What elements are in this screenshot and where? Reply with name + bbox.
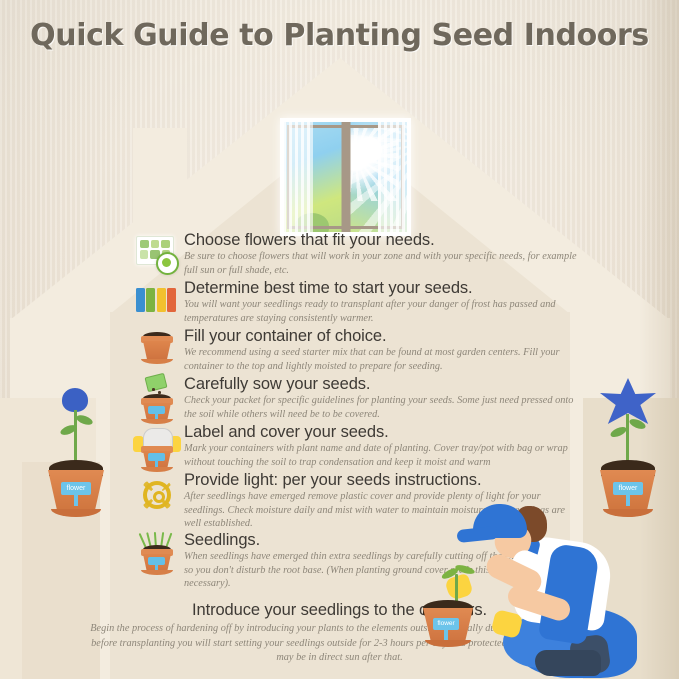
pot-saucer: [141, 359, 173, 364]
gardener-boot-front: [535, 650, 601, 676]
sowing-seeds-icon: [134, 376, 180, 422]
filled-pot-icon: [134, 328, 180, 374]
step-body: Be sure to choose flowers that will work…: [184, 250, 582, 276]
pot-label: flower: [613, 482, 643, 495]
pot-saucer: [141, 570, 173, 575]
seedling-leaf: [454, 563, 475, 575]
gardener-illustration: flower: [455, 500, 679, 679]
step-heading: Provide light: per your seeds instructio…: [184, 471, 582, 489]
step-item: Carefully sow your seeds. Check your pac…: [134, 375, 582, 422]
label-and-cover-icon: [134, 424, 180, 470]
seedling-pot-icon: [134, 532, 180, 578]
flower-bud-icon: [62, 388, 88, 412]
step-heading: Fill your container of choice.: [184, 327, 582, 345]
step-item: Fill your container of choice. We recomm…: [134, 327, 582, 374]
season-spring: [146, 288, 155, 312]
step-body: Mark your containers with plant name and…: [184, 442, 582, 468]
pot-label: flower: [61, 482, 91, 495]
seed-packet-icon: [134, 232, 180, 278]
season-summer: [157, 288, 166, 312]
step-heading: Carefully sow your seeds.: [184, 375, 582, 393]
pot-label-tag: [148, 406, 165, 414]
infographic-poster: Quick Guide to Planting Seed Indoors Cho…: [0, 0, 679, 679]
potted-flower-left: flower: [48, 440, 104, 518]
four-season-calendar-icon: [134, 280, 180, 326]
pot-saucer: [51, 509, 101, 517]
sun-light-icon: [134, 472, 180, 518]
window-frame: [280, 118, 411, 236]
page-title: Quick Guide to Planting Seed Indoors: [0, 18, 679, 53]
flower-stem: [626, 414, 629, 462]
sun-ring: [143, 481, 171, 509]
step-body: Check your packet for specific guideline…: [184, 394, 582, 420]
step-text: Fill your container of choice. We recomm…: [184, 327, 582, 373]
season-panels: [136, 288, 176, 312]
step-text: Carefully sow your seeds. Check your pac…: [184, 375, 582, 421]
step-text: Determine best time to start your seeds.…: [184, 279, 582, 325]
step-body: You will want your seedlings ready to tr…: [184, 298, 582, 324]
season-winter: [136, 288, 145, 312]
step-item: Choose flowers that fit your needs. Be s…: [134, 231, 582, 278]
step-item: Label and cover your seeds. Mark your co…: [134, 423, 582, 470]
pot-label: flower: [433, 618, 459, 630]
pot-label-tag: [148, 557, 165, 565]
window-illustration: [280, 118, 411, 236]
season-autumn: [167, 288, 176, 312]
gardener-cap-brim: [456, 526, 497, 543]
check-badge-icon: [156, 252, 179, 275]
step-text: Choose flowers that fit your needs. Be s…: [184, 231, 582, 277]
step-item: Determine best time to start your seeds.…: [134, 279, 582, 326]
step-body: We recommend using a seed starter mix th…: [184, 346, 582, 372]
pot-label-tag: [148, 453, 165, 461]
step-heading: Label and cover your seeds.: [184, 423, 582, 441]
step-text: Label and cover your seeds. Mark your co…: [184, 423, 582, 469]
gardener-pot: flower: [423, 600, 473, 640]
step-heading: Choose flowers that fit your needs.: [184, 231, 582, 249]
step-heading: Determine best time to start your seeds.: [184, 279, 582, 297]
